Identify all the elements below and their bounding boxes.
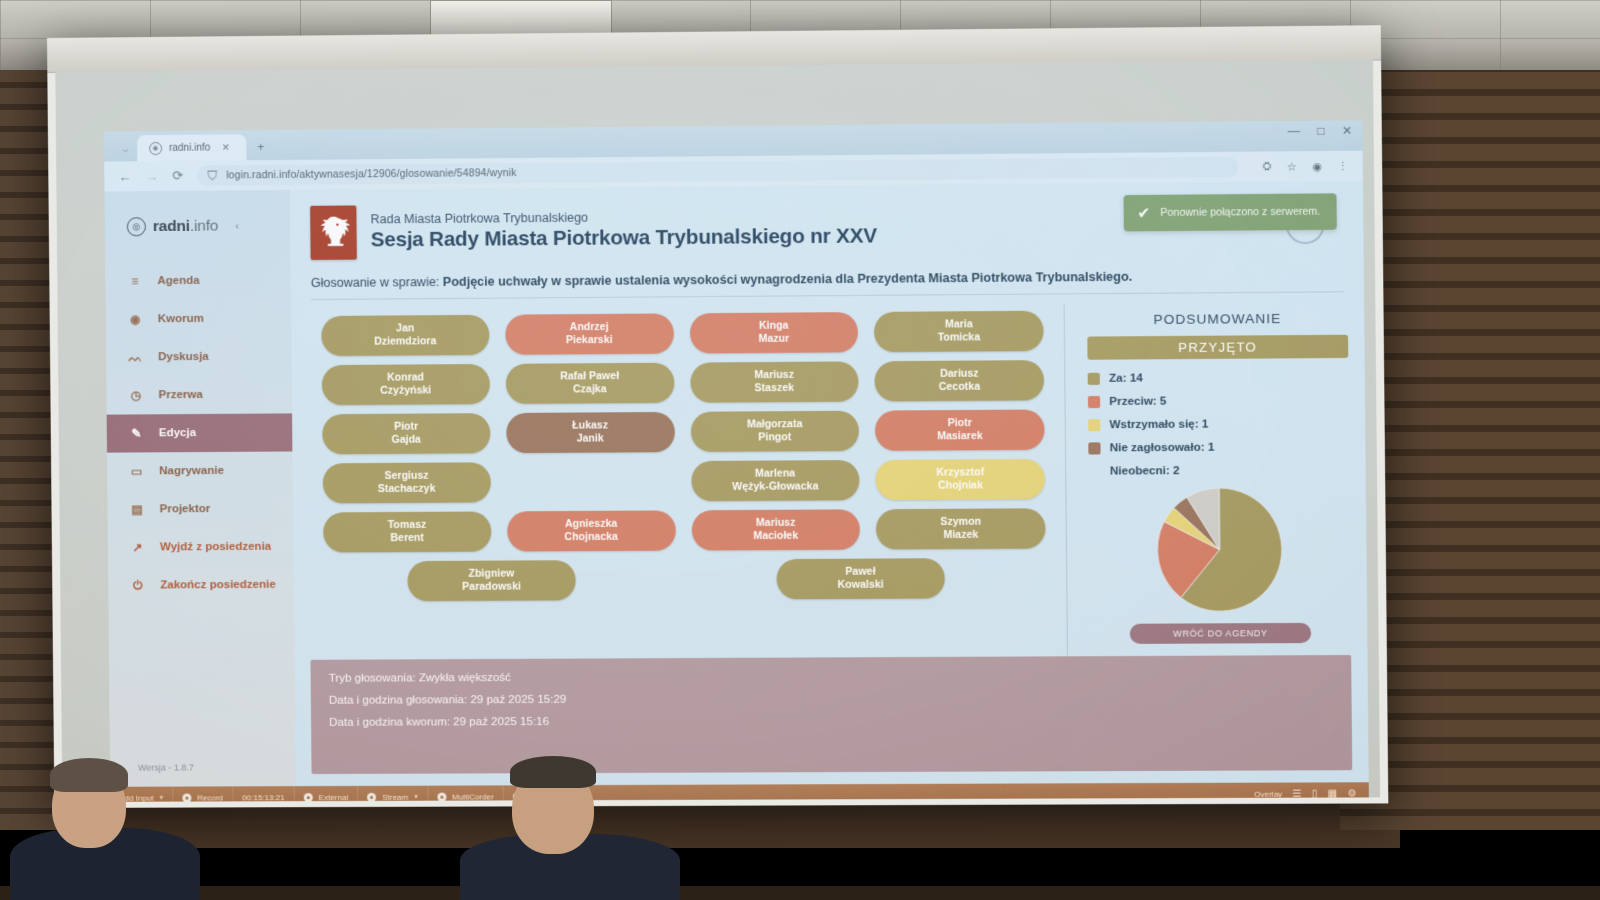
stopwatch-icon: ◷ xyxy=(128,388,143,402)
new-tab-button[interactable]: + xyxy=(252,140,269,154)
sidebar-item-label: Zakończ posiedzenie xyxy=(160,579,275,592)
brand-suffix: .info xyxy=(190,217,219,234)
sidebar-item-label: Projektor xyxy=(160,503,211,515)
verdict-badge: PRZYJĘTO xyxy=(1087,335,1348,360)
voter-chip[interactable]: ZbigniewParadowski xyxy=(407,560,575,601)
bookmark-star-icon[interactable]: ☆ xyxy=(1287,160,1297,173)
voter-chip[interactable]: MarlenaWężyk-Głowacka xyxy=(691,460,860,501)
menu-icon[interactable]: ☰ xyxy=(1292,788,1301,799)
voter-last-name: Chojniak xyxy=(938,479,983,492)
sidebar: ◎ radni.info ‹ ≡Agenda◉KworumᨓDyskusja◷P… xyxy=(104,190,295,787)
sidebar-item-label: Edycja xyxy=(159,427,196,439)
voter-first-name: Andrzej xyxy=(570,321,609,334)
toast-message: Ponownie połączono z serwerem. xyxy=(1160,206,1320,219)
browser-tab-title: radni.info xyxy=(169,142,210,153)
window-close-button[interactable]: ✕ xyxy=(1342,123,1352,137)
voter-last-name: Stachaczyk xyxy=(378,483,436,496)
sidebar-item-wyjdź-z-posiedzenia[interactable]: ↗Wyjdź z posiedzenia xyxy=(108,528,294,567)
voter-last-name: Berent xyxy=(390,532,424,545)
brand-name: radni xyxy=(153,217,190,234)
voter-first-name: Krzysztof xyxy=(936,466,984,479)
voter-chip-cell: PawełKowalski xyxy=(776,558,945,599)
voter-first-name: Rafał Paweł xyxy=(560,370,619,383)
voter-chip[interactable]: KonradCzyżyński xyxy=(322,364,490,405)
vmix-timecode-button[interactable]: 00:15:13:21 xyxy=(233,786,295,802)
microphone-icon: ᨓ xyxy=(128,350,143,365)
voter-first-name: Kinga xyxy=(759,320,789,333)
address-text: login.radni.info/aktywnasesja/12906/glos… xyxy=(226,167,516,181)
council-subtitle: Rada Miasta Piotrkowa Trybunalskiego xyxy=(370,208,876,226)
voter-chip[interactable]: JanDziemdziora xyxy=(321,315,489,356)
voter-last-name: Mazur xyxy=(758,333,789,346)
voter-chip[interactable]: PiotrMasiarek xyxy=(875,409,1045,450)
voter-last-name: Staszek xyxy=(754,382,794,395)
settings-icon[interactable]: ⚙ xyxy=(1347,788,1356,799)
sidebar-item-label: Agenda xyxy=(157,275,199,287)
legend-label: Za: 14 xyxy=(1109,372,1143,384)
sidebar-item-label: Kworum xyxy=(158,313,204,325)
vmix-item-label: Stream xyxy=(382,792,408,801)
voter-last-name: Paradowski xyxy=(462,581,521,594)
voter-first-name: Zbigniew xyxy=(468,568,514,581)
voter-last-name: Miazek xyxy=(943,529,978,542)
check-icon: ✔ xyxy=(1137,204,1150,222)
tab-close-icon[interactable]: × xyxy=(217,140,234,154)
attendee-person-left xyxy=(10,780,200,900)
vmix-item-label: External xyxy=(319,792,349,801)
back-to-agenda-button[interactable]: WRÓĆ DO AGENDY xyxy=(1130,623,1312,644)
voters-panel: JanDziemdzioraAndrzejPiekarskiKingaMazur… xyxy=(307,304,1068,668)
voter-last-name: Wężyk-Głowacka xyxy=(732,480,818,494)
vmix-status-dot-icon xyxy=(304,793,313,802)
voter-chip[interactable]: MariuszStaszek xyxy=(690,361,859,402)
voting-datetime-line: Data i godzina głosowania: 29 paź 2025 1… xyxy=(329,690,1333,706)
voter-first-name: Tomasz xyxy=(388,519,427,532)
app-version-label: Wersja - 1.8.7 xyxy=(138,762,194,772)
tab-list-chevron-icon[interactable]: ⌄ xyxy=(120,140,131,156)
attendee-person-right xyxy=(460,780,680,900)
voter-first-name: Paweł xyxy=(845,566,875,579)
vmix-item-label: Record xyxy=(197,793,223,802)
voter-chip[interactable]: MariuszMaciołek xyxy=(691,509,860,550)
voter-last-name: Czajka xyxy=(573,383,607,396)
voter-first-name: Piotr xyxy=(394,421,418,434)
voter-first-name: Mariusz xyxy=(756,517,796,530)
voter-last-name: Czyżyński xyxy=(380,384,431,397)
voter-chip[interactable]: KingaMazur xyxy=(689,312,858,353)
summary-panel: PODSUMOWANIE PRZYJĘTO Za: 14Przeciw: 5Ws… xyxy=(1065,302,1352,665)
sidebar-item-agenda[interactable]: ≡Agenda xyxy=(105,261,291,300)
browser-tab[interactable]: ◉ radni.info × xyxy=(137,134,247,161)
address-input[interactable]: ⛉ login.radni.info/aktywnasesja/12906/gl… xyxy=(197,157,1238,186)
legend-swatch xyxy=(1088,442,1100,454)
legend-label: Przeciw: 5 xyxy=(1109,396,1166,408)
projection-screen: ⌄ ◉ radni.info × + — □ ✕ xyxy=(47,25,1388,808)
profile-icon[interactable]: ◉ xyxy=(1312,160,1322,173)
extensions-icon[interactable]: ⛭ xyxy=(1262,160,1271,173)
voter-chip[interactable]: SzymonMiazek xyxy=(876,508,1046,549)
chevron-down-icon[interactable]: ▾ xyxy=(414,793,418,801)
voter-chip-grid-last-row: ZbigniewParadowskiPawełKowalski xyxy=(309,549,1056,602)
legend-swatch xyxy=(1088,396,1100,408)
summary-title: PODSUMOWANIE xyxy=(1087,310,1348,327)
results-pie-chart xyxy=(1089,487,1351,612)
legend-row: Nie zagłosowało: 1 xyxy=(1088,441,1349,455)
window-minimize-button[interactable]: — xyxy=(1288,124,1300,138)
voter-last-name: Pingot xyxy=(758,431,791,444)
voting-subject-label: Głosowanie w sprawie: xyxy=(311,275,440,290)
edit-icon: ✎ xyxy=(129,426,144,440)
main-content: Rada Miasta Piotrkowa Trybunalskiego Ses… xyxy=(290,181,1369,786)
reload-icon[interactable]: ⟳ xyxy=(172,168,183,184)
site-info-icon[interactable]: ⛉ xyxy=(207,168,217,184)
vmix-overlay-label[interactable]: Overlay xyxy=(1254,789,1282,798)
voter-first-name: Piotr xyxy=(948,417,972,430)
voter-last-name: Piekarski xyxy=(566,334,613,347)
voter-chip[interactable]: AgnieszkaChojnacka xyxy=(507,510,676,551)
browser-window: ⌄ ◉ radni.info × + — □ ✕ xyxy=(104,120,1369,786)
vote-info-box: Tryb głosowania: Zwykła większość Data i… xyxy=(310,655,1352,774)
voter-first-name: Dariusz xyxy=(940,368,979,381)
record-icon: ▭ xyxy=(129,464,144,478)
voter-last-name: Janik xyxy=(577,432,604,445)
legend-label: Nieobecni: 2 xyxy=(1110,465,1180,478)
voter-last-name: Tomicka xyxy=(938,331,981,344)
foreground-table xyxy=(0,886,1600,900)
vmix-external-button[interactable]: External xyxy=(294,786,358,802)
voter-first-name: Jan xyxy=(396,322,414,335)
connection-toast: ✔ Ponownie połączono z serwerem. xyxy=(1124,193,1337,231)
legend-swatch xyxy=(1088,373,1100,385)
voter-chip[interactable]: PawełKowalski xyxy=(776,558,945,599)
voter-chip[interactable]: MałgorzataPingot xyxy=(690,411,859,452)
radni-logo-icon: ◎ xyxy=(127,217,146,236)
sidebar-item-edycja[interactable]: ✎Edycja xyxy=(107,413,293,452)
list-icon: ≡ xyxy=(127,274,142,288)
back-icon[interactable]: ← xyxy=(118,169,131,184)
legend-label: Nie zagłosowało: 1 xyxy=(1110,442,1215,455)
voter-chip-placeholder xyxy=(506,461,675,502)
sidebar-item-zakończ-posiedzenie[interactable]: ⏻Zakończ posiedzenie xyxy=(108,566,294,605)
voter-last-name: Maciołek xyxy=(753,530,798,543)
legend-row: Za: 14 xyxy=(1088,371,1349,385)
radni-favicon-icon: ◉ xyxy=(149,141,162,154)
voter-chip[interactable]: Rafał PawełCzajka xyxy=(505,363,674,404)
voter-chip[interactable]: SergiuszStachaczyk xyxy=(323,462,491,503)
voter-last-name: Gajda xyxy=(391,434,420,447)
voter-chip-grid: JanDziemdzioraAndrzejPiekarskiKingaMazur… xyxy=(307,305,1056,553)
sidebar-item-projektor[interactable]: ▤Projektor xyxy=(107,490,293,529)
voter-chip[interactable]: ŁukaszJanik xyxy=(506,412,675,453)
sidebar-item-label: Wyjdź z posiedzenia xyxy=(160,541,271,554)
voter-last-name: Chojnacka xyxy=(564,531,618,544)
conference-room-background: ⌄ ◉ radni.info × + — □ ✕ xyxy=(0,0,1600,900)
grid-view-icon[interactable]: ▦ xyxy=(1328,788,1338,799)
voter-chip[interactable]: TomaszBerent xyxy=(323,511,491,552)
voter-chip-cell: ZbigniewParadowski xyxy=(407,560,575,601)
legend-label: Wstrzymało się: 1 xyxy=(1109,418,1208,431)
voter-first-name: Łukasz xyxy=(572,419,608,432)
voter-chip[interactable]: AndrzejPiekarski xyxy=(505,313,674,354)
forward-icon[interactable]: → xyxy=(145,169,158,184)
quorum-datetime-line: Data i godzina kworum: 29 paź 2025 15:16 xyxy=(329,713,1333,729)
results-legend: Za: 14Przeciw: 5Wstrzymało się: 1Nie zag… xyxy=(1088,371,1350,478)
voter-first-name: Marlena xyxy=(755,467,795,480)
sidebar-item-przerwa[interactable]: ◷Przerwa xyxy=(106,375,292,414)
voter-first-name: Mariusz xyxy=(754,369,794,382)
exit-icon: ↗ xyxy=(130,540,145,554)
projection-screen-surface: ⌄ ◉ radni.info × + — □ ✕ xyxy=(55,60,1380,802)
voter-chip[interactable]: KrzysztofChojniak xyxy=(876,459,1046,500)
legend-row: Przeciw: 5 xyxy=(1088,394,1349,408)
sidebar-item-nagrywanie[interactable]: ▭Nagrywanie xyxy=(107,451,293,490)
voter-last-name: Cecotka xyxy=(939,381,981,394)
legend-row: Nieobecni: 2 xyxy=(1089,464,1350,478)
check-circle-icon: ◉ xyxy=(128,312,143,326)
vmix-status-dot-icon xyxy=(437,792,446,801)
single-view-icon[interactable]: ▯ xyxy=(1312,788,1318,799)
sidebar-collapse-icon[interactable]: ‹ xyxy=(235,220,239,232)
window-maximize-button[interactable]: □ xyxy=(1317,124,1325,138)
voter-chip[interactable]: PiotrGajda xyxy=(322,413,490,454)
sidebar-item-label: Przerwa xyxy=(158,389,202,401)
projector-icon: ▤ xyxy=(129,502,144,516)
browser-menu-icon[interactable]: ⋮ xyxy=(1337,159,1348,172)
voter-first-name: Maria xyxy=(945,318,973,331)
voting-mode-line: Tryb głosowania: Zwykła większość xyxy=(329,668,1333,685)
page-title: Sesja Rady Miasta Piotrkowa Trybunalskie… xyxy=(371,224,878,252)
voter-first-name: Konrad xyxy=(387,371,424,384)
voter-first-name: Agnieszka xyxy=(565,518,618,531)
voter-chip[interactable]: MariaTomicka xyxy=(874,311,1044,353)
ceiling-light-panel xyxy=(430,0,612,36)
page-header: Rada Miasta Piotrkowa Trybunalskiego Ses… xyxy=(306,181,1347,268)
voting-subject-text: Podjęcie uchwały w sprawie ustalenia wys… xyxy=(443,270,1133,289)
voting-subject: Głosowanie w sprawie: Podjęcie uchwały w… xyxy=(311,268,1344,300)
voter-last-name: Masiarek xyxy=(937,430,983,443)
sidebar-item-label: Nagrywanie xyxy=(159,465,224,477)
voter-last-name: Dziemdziora xyxy=(374,335,436,348)
radni-app: ◎ radni.info ‹ ≡Agenda◉KworumᨓDyskusja◷P… xyxy=(104,181,1368,787)
vmix-toolbar: Add Input▾Record00:15:13:21ExternalStrea… xyxy=(110,782,1369,802)
vmix-status-dot-icon xyxy=(367,792,376,801)
voter-first-name: Małgorzata xyxy=(747,418,803,431)
vmix-stream-button[interactable]: Stream▾ xyxy=(358,786,428,802)
results-content: JanDziemdzioraAndrzejPiekarskiKingaMazur… xyxy=(307,302,1351,668)
voter-chip[interactable]: DariuszCecotka xyxy=(875,360,1045,401)
sidebar-item-dyskusja[interactable]: ᨓDyskusja xyxy=(106,337,292,376)
app-logo[interactable]: ◎ radni.info ‹ xyxy=(105,206,291,247)
vmix-item-label: 00:15:13:21 xyxy=(242,793,284,802)
voter-first-name: Sergiusz xyxy=(384,470,428,483)
legend-swatch xyxy=(1088,419,1100,431)
legend-row: Wstrzymało się: 1 xyxy=(1088,418,1349,432)
polish-eagle-crest-icon xyxy=(310,205,357,259)
voter-first-name: Szymon xyxy=(940,516,981,529)
voter-last-name: Kowalski xyxy=(838,579,884,592)
sidebar-nav: ≡Agenda◉KworumᨓDyskusja◷Przerwa✎Edycja▭N… xyxy=(105,261,294,605)
sidebar-item-label: Dyskusja xyxy=(158,351,209,363)
power-icon: ⏻ xyxy=(130,578,145,593)
sidebar-item-kworum[interactable]: ◉Kworum xyxy=(106,299,292,338)
